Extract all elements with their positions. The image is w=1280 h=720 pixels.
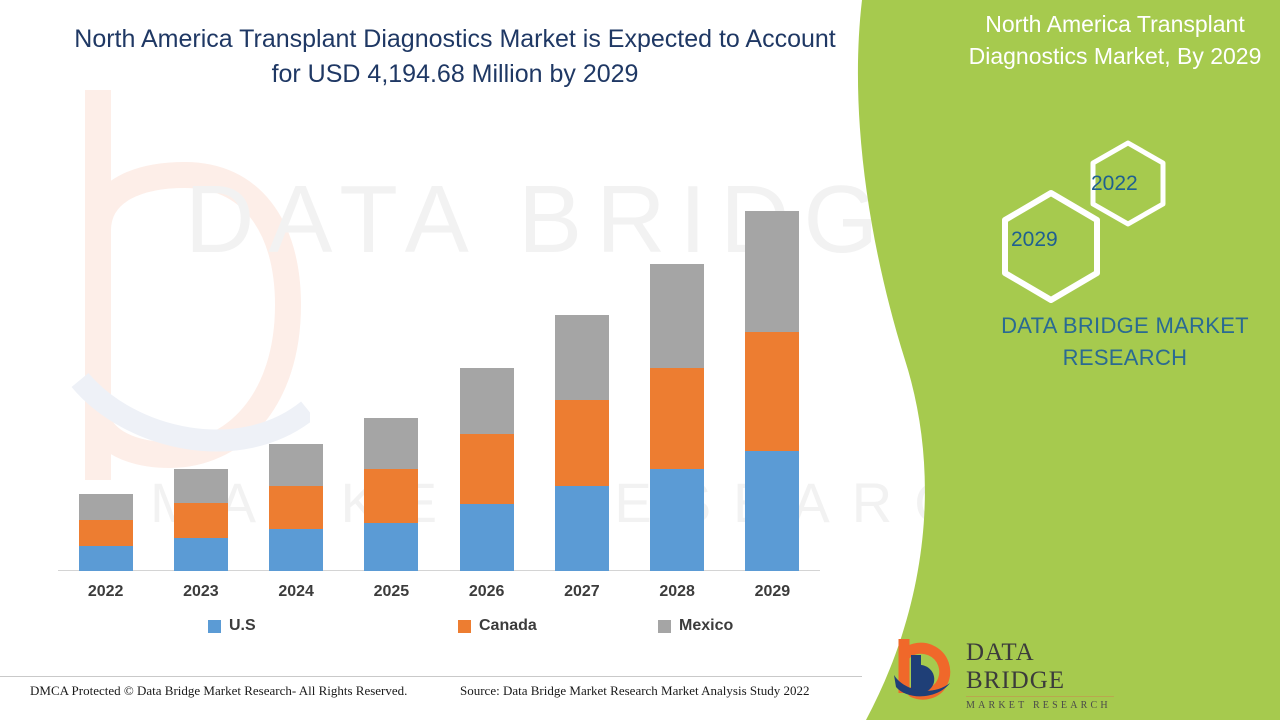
logo-company-name: DATA BRIDGE <box>966 639 1114 695</box>
panel-brand-line-1: DATA BRIDGE MARKET <box>975 310 1275 342</box>
bar-segment-canada <box>555 400 609 486</box>
x-axis-tick-2024: 2024 <box>251 583 341 601</box>
stacked-bar-chart: 20222023202420252026202720282029 U.SCana… <box>0 0 860 720</box>
legend-item-u-s[interactable]: U.S <box>208 617 256 635</box>
bar-column <box>174 469 228 571</box>
x-axis-tick-2022: 2022 <box>61 583 151 601</box>
bar-segment-u-s <box>555 486 609 571</box>
bar-column <box>555 315 609 571</box>
legend-label: Mexico <box>679 617 733 635</box>
bar-segment-canada <box>174 503 228 538</box>
bar-segment-mexico <box>364 418 418 469</box>
legend-swatch-icon <box>458 620 471 633</box>
bar-segment-mexico <box>269 444 323 486</box>
bar-segment-u-s <box>745 451 799 571</box>
legend-label: U.S <box>229 617 256 635</box>
chart-x-axis-labels: 20222023202420252026202720282029 <box>58 583 820 607</box>
bar-column <box>269 444 323 571</box>
bar-segment-u-s <box>174 538 228 571</box>
footer-source: Source: Data Bridge Market Research Mark… <box>460 683 809 699</box>
bar-segment-canada <box>79 520 133 546</box>
page-title: North America Transplant Diagnostics Mar… <box>60 22 850 92</box>
legend-label: Canada <box>479 617 537 635</box>
infographic-page: DATA BRIDGE MARKET RESEARCH North Americ… <box>0 0 1280 720</box>
bar-segment-mexico <box>555 315 609 400</box>
bar-segment-mexico <box>650 264 704 368</box>
legend-swatch-icon <box>658 620 671 633</box>
bar-segment-u-s <box>650 469 704 571</box>
chart-legend: U.SCanadaMexico <box>58 617 820 643</box>
panel-brand-line-2: RESEARCH <box>975 342 1275 374</box>
bar-segment-canada <box>364 469 418 523</box>
bar-column <box>650 264 704 571</box>
panel-brand-name: DATA BRIDGE MARKET RESEARCH <box>975 310 1275 374</box>
bar-segment-canada <box>460 434 514 504</box>
hexagon-labels: 2022 2029 <box>975 130 1225 295</box>
logo-divider <box>966 696 1114 697</box>
bar-segment-mexico <box>460 368 514 434</box>
x-axis-tick-2025: 2025 <box>346 583 436 601</box>
logo-mark-icon <box>890 635 962 701</box>
bar-segment-mexico <box>745 211 799 332</box>
bar-column <box>460 368 514 571</box>
x-axis-tick-2023: 2023 <box>156 583 246 601</box>
legend-item-canada[interactable]: Canada <box>458 617 537 635</box>
bar-segment-mexico <box>174 469 228 503</box>
bar-segment-canada <box>745 332 799 451</box>
bar-column <box>364 418 418 571</box>
logo-tagline: MARKET RESEARCH <box>966 699 1114 712</box>
bar-column <box>79 494 133 571</box>
bar-segment-canada <box>650 368 704 469</box>
x-axis-tick-2026: 2026 <box>442 583 532 601</box>
legend-item-mexico[interactable]: Mexico <box>658 617 733 635</box>
chart-plot-area <box>58 190 820 571</box>
bar-column <box>745 211 799 571</box>
x-axis-tick-2027: 2027 <box>537 583 627 601</box>
hexagon-label-start-year: 2022 <box>1091 172 1138 196</box>
bar-segment-u-s <box>269 529 323 571</box>
logo-wordmark: DATA BRIDGE MARKET RESEARCH <box>966 639 1114 712</box>
x-axis-tick-2028: 2028 <box>632 583 722 601</box>
bar-segment-mexico <box>79 494 133 520</box>
company-logo: DATA BRIDGE MARKET RESEARCH <box>890 635 1115 703</box>
panel-title: North America Transplant Diagnostics Mar… <box>960 8 1270 72</box>
bar-segment-u-s <box>460 504 514 571</box>
legend-swatch-icon <box>208 620 221 633</box>
hexagon-label-end-year: 2029 <box>1011 228 1058 252</box>
bar-segment-u-s <box>79 546 133 571</box>
bar-segment-canada <box>269 486 323 529</box>
footer-divider <box>0 676 862 677</box>
bar-segment-u-s <box>364 523 418 571</box>
x-axis-tick-2029: 2029 <box>727 583 817 601</box>
footer-copyright: DMCA Protected © Data Bridge Market Rese… <box>30 683 407 699</box>
